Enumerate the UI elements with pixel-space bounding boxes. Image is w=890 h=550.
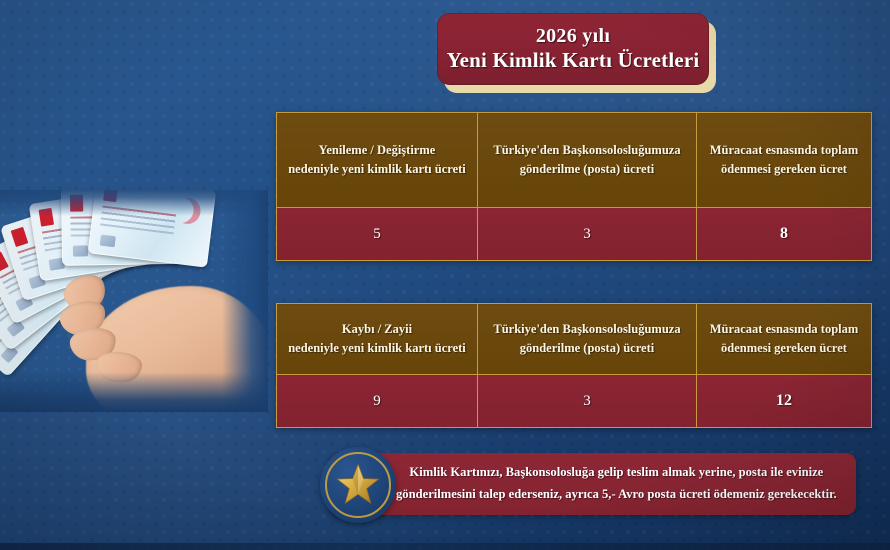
photo-edge-fade-bottom	[0, 372, 268, 412]
table-header-row: Kaybı / Zayii nedeniyle yeni kimlik kart…	[277, 304, 872, 375]
fee-value-cell: 5	[277, 208, 478, 261]
header-line: Yenileme / Değiştirme	[284, 141, 470, 160]
table-header-cell: Türkiye'den Başkonsolosluğumuza gönderil…	[478, 113, 697, 208]
gold-star-medallion-icon	[320, 447, 396, 523]
header-line: Türkiye'den Başkonsolosluğumuza	[485, 141, 689, 160]
table-header-cell: Müracaat esnasında toplam ödenmesi gerek…	[697, 113, 872, 208]
header-line: ödenmesi gereken ücret	[704, 160, 864, 179]
fee-total-cell: 12	[697, 375, 872, 428]
footer-note-bar: Kimlik Kartınızı, Başkonsolosluğa gelip …	[330, 453, 856, 515]
header-line: Müracaat esnasında toplam	[704, 320, 864, 339]
fee-value-cell: 9	[277, 375, 478, 428]
title-banner-plate: 2026 yılı Yeni Kimlik Kartı Ücretleri	[437, 13, 709, 85]
title-banner: 2026 yılı Yeni Kimlik Kartı Ücretleri	[437, 13, 709, 85]
header-line: nedeniyle yeni kimlik kartı ücreti	[284, 160, 470, 179]
header-line: ödenmesi gereken ücret	[704, 339, 864, 358]
header-line: Kaybı / Zayii	[284, 320, 470, 339]
table-header-cell: Kaybı / Zayii nedeniyle yeni kimlik kart…	[277, 304, 478, 375]
header-line: gönderilme (posta) ücreti	[485, 339, 689, 358]
footer-line-1: Kimlik Kartınızı, Başkonsolosluğa gelip …	[396, 462, 837, 484]
slide-canvas: 2026 yılı Yeni Kimlik Kartı Ücretleri Ye…	[0, 0, 890, 550]
footer-note-text: Kimlik Kartınızı, Başkonsolosluğa gelip …	[396, 462, 837, 505]
table-row: 5 3 8	[277, 208, 872, 261]
fee-value-cell: 3	[478, 375, 697, 428]
id-cards-photo	[0, 190, 268, 412]
medallion-ring	[325, 452, 391, 518]
table-header-cell: Yenileme / Değiştirme nedeniyle yeni kim…	[277, 113, 478, 208]
header-line: gönderilme (posta) ücreti	[485, 160, 689, 179]
table-header-row: Yenileme / Değiştirme nedeniyle yeni kim…	[277, 113, 872, 208]
fee-value-cell: 3	[478, 208, 697, 261]
fee-total-cell: 8	[697, 208, 872, 261]
title-line-2: Yeni Kimlik Kartı Ücretleri	[447, 49, 700, 71]
title-line-1: 2026 yılı	[536, 26, 610, 47]
fee-table-renewal: Yenileme / Değiştirme nedeniyle yeni kim…	[276, 112, 872, 261]
chip-icon	[100, 235, 116, 248]
table-row: 9 3 12	[277, 375, 872, 428]
table-header-cell: Müracaat esnasında toplam ödenmesi gerek…	[697, 304, 872, 375]
footer-line-2: gönderilmesini talep ederseniz, ayrıca 5…	[396, 484, 837, 506]
header-line: nedeniyle yeni kimlik kartı ücreti	[284, 339, 470, 358]
header-line: Müracaat esnasında toplam	[704, 141, 864, 160]
chip-icon	[73, 245, 88, 256]
table-header-cell: Türkiye'den Başkonsolosluğumuza gönderil…	[478, 304, 697, 375]
bottom-edge-bar	[0, 543, 890, 550]
fee-table-loss: Kaybı / Zayii nedeniyle yeni kimlik kart…	[276, 303, 872, 428]
header-line: Türkiye'den Başkonsolosluğumuza	[485, 320, 689, 339]
